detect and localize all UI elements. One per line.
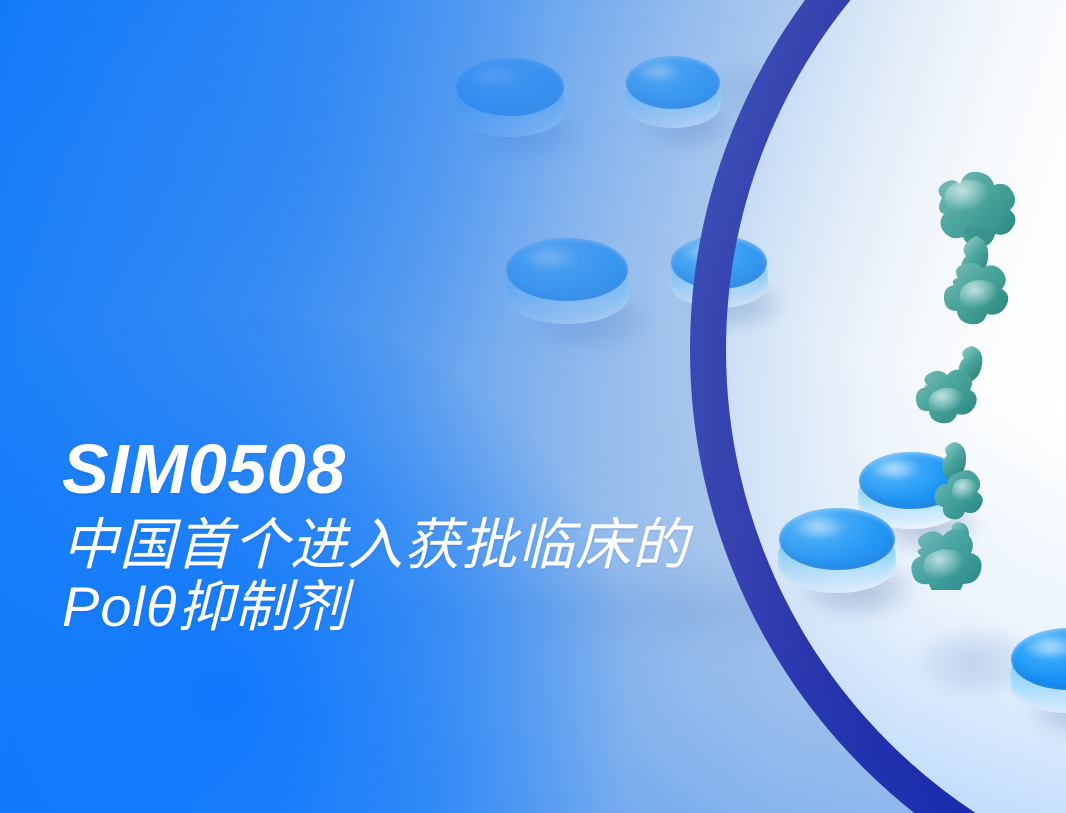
title-block: SIM0508 中国首个进入获批临床的 Polθ抑制剂 (62, 430, 902, 638)
subtitle-line-1: 中国首个进入获批临床的 (62, 514, 902, 576)
page-title: SIM0508 (62, 430, 902, 508)
subtitle-line-2: Polθ抑制剂 (62, 576, 902, 638)
poster-canvas: SIM0508 中国首个进入获批临床的 Polθ抑制剂 (0, 0, 1066, 813)
page-subtitle: 中国首个进入获批临床的 Polθ抑制剂 (62, 514, 902, 638)
